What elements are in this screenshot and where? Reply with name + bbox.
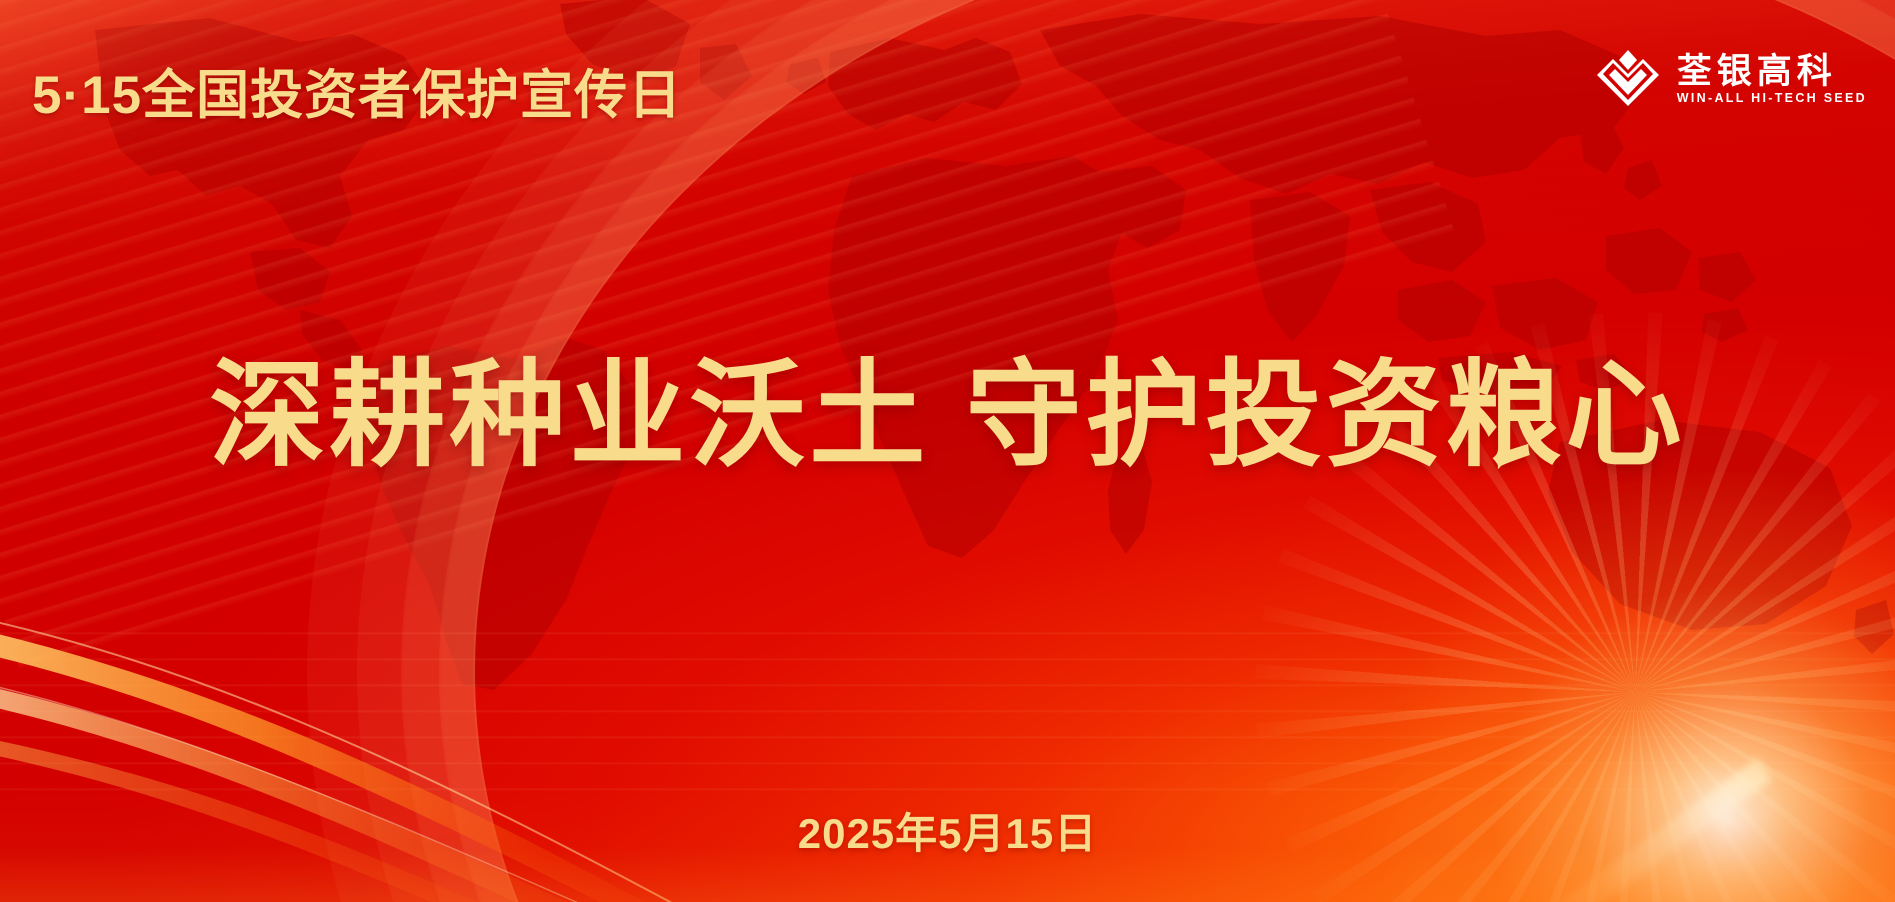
main-headline: 深耕种业沃土 守护投资粮心: [0, 352, 1895, 480]
investor-protection-banner: 5·15全国投资者保护宣传日 荃银高科 WIN-ALL HI-TECH SEED…: [0, 0, 1895, 902]
win-all-chevron-seed-mark-icon: [1595, 48, 1661, 110]
logo-company-name-en: WIN-ALL HI-TECH SEED: [1677, 92, 1867, 105]
company-logo: 荃银高科 WIN-ALL HI-TECH SEED: [1595, 48, 1867, 110]
event-title: 5·15全国投资者保护宣传日: [32, 53, 682, 129]
logo-company-name-cn: 荃银高科: [1677, 54, 1867, 89]
event-date: 2025年5月15日: [0, 800, 1895, 861]
